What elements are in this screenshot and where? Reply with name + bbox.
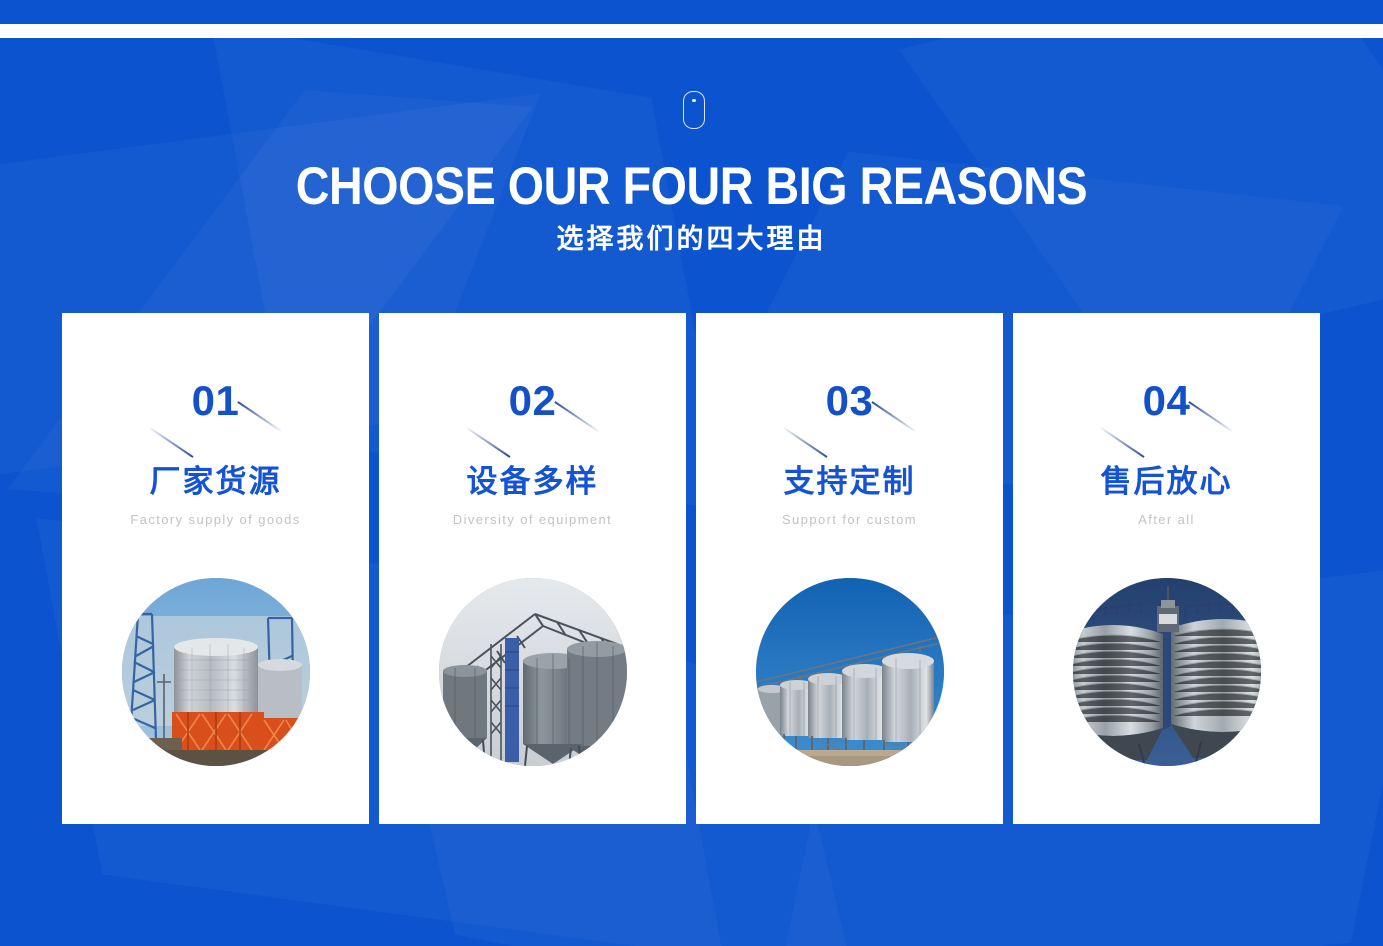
diagonal-slash-icon bbox=[149, 427, 193, 457]
reason-card-list: 01 厂家货源 Factory supply of goods bbox=[62, 313, 1321, 824]
card-title-english: Support for custom bbox=[722, 511, 977, 529]
reason-card[interactable]: 04 售后放心 After all bbox=[1013, 313, 1320, 824]
page-title-chinese: 选择我们的四大理由 bbox=[0, 222, 1383, 258]
mouse-scroll-wheel-dot bbox=[692, 99, 695, 102]
top-blue-band bbox=[0, 0, 1383, 24]
card-photo bbox=[439, 578, 627, 766]
card-number: 01 bbox=[62, 375, 369, 427]
card-photo bbox=[1073, 578, 1261, 766]
reason-card[interactable]: 01 厂家货源 Factory supply of goods bbox=[62, 313, 369, 824]
top-white-divider bbox=[0, 24, 1383, 38]
card-number: 02 bbox=[379, 375, 686, 427]
card-photo bbox=[122, 578, 310, 766]
reason-card[interactable]: 03 支持定制 Support for custom bbox=[696, 313, 1003, 824]
card-number-block: 02 bbox=[379, 375, 686, 431]
card-title-english: Diversity of equipment bbox=[405, 511, 660, 529]
grey-silo-cluster-conveyor-photo bbox=[439, 578, 627, 766]
diagonal-slash-icon bbox=[1100, 427, 1144, 457]
promo-section: CHOOSE OUR FOUR BIG REASONS 选择我们的四大理由 01… bbox=[0, 0, 1383, 946]
card-photo bbox=[756, 578, 944, 766]
steel-silo-orange-support-photo bbox=[122, 578, 310, 766]
reason-card[interactable]: 02 设备多样 Diversity of equipment bbox=[379, 313, 686, 824]
card-title-chinese: 厂家货源 bbox=[62, 461, 369, 503]
mouse-scroll-icon[interactable] bbox=[683, 91, 705, 129]
card-title-english: After all bbox=[1039, 511, 1294, 529]
diagonal-slash-icon bbox=[783, 427, 827, 457]
card-number-block: 04 bbox=[1013, 375, 1320, 431]
corrugated-silo-closeup-photo bbox=[1073, 578, 1261, 766]
card-title-english: Factory supply of goods bbox=[88, 511, 343, 529]
card-number-block: 03 bbox=[696, 375, 1003, 431]
card-number: 03 bbox=[696, 375, 1003, 427]
card-number: 04 bbox=[1013, 375, 1320, 427]
card-title-chinese: 支持定制 bbox=[696, 461, 1003, 503]
diagonal-slash-icon bbox=[466, 427, 510, 457]
card-title-chinese: 售后放心 bbox=[1013, 461, 1320, 503]
card-title-chinese: 设备多样 bbox=[379, 461, 686, 503]
silo-row-blue-sky-photo bbox=[756, 578, 944, 766]
page-title-english: CHOOSE OUR FOUR BIG REASONS bbox=[83, 158, 1300, 216]
card-number-block: 01 bbox=[62, 375, 369, 431]
